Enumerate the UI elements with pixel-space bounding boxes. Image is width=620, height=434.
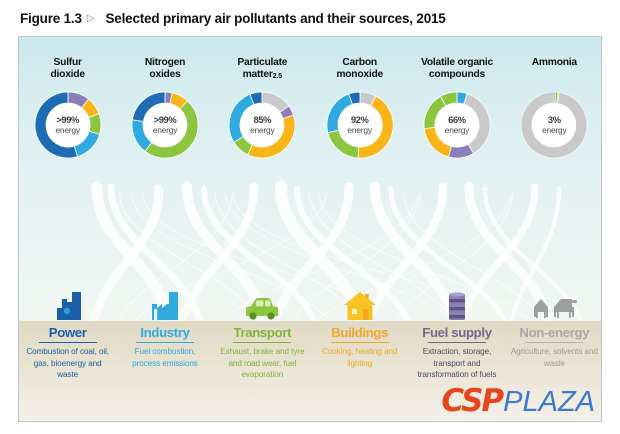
- sector-fuel-supply: Fuel supply Extraction, storage, transpo…: [408, 281, 505, 421]
- donut-chart-carbon-monoxide: 92% energy: [324, 89, 396, 161]
- pollutant-particulate-matter: Particulate matter2.5 85% energ: [214, 37, 311, 197]
- sector-buildings: Buildings Cooking, heating and lighting: [311, 281, 408, 421]
- pollutant-subscript: 2.5: [273, 71, 282, 80]
- pollutant-sulfur-dioxide: Sulfur dioxide >99% energy: [19, 37, 116, 197]
- pollutant-donut-row: Sulfur dioxide >99% energy: [19, 37, 602, 197]
- sector-description: Combustion of coal, oil, gas, bioenergy …: [19, 346, 116, 381]
- donut-center-label: 66% energy: [435, 103, 479, 147]
- car-icon: [240, 281, 284, 323]
- sector-rule: [331, 342, 389, 344]
- donut-chart-nitrogen-oxides: >99% energy: [129, 89, 201, 161]
- sector-description: Extraction, storage, transport and trans…: [408, 346, 505, 381]
- factory-icon: [145, 281, 185, 323]
- donut-sublabel: energy: [55, 126, 79, 135]
- donut-center-label: 85% energy: [240, 103, 284, 147]
- pollutant-label: Carbon monoxide: [336, 57, 383, 83]
- sector-rule: [428, 342, 486, 344]
- triangle-right-icon: ▷: [87, 13, 95, 24]
- donut-percent: >99%: [154, 115, 177, 126]
- sector-power: Power Combustion of coal, oil, gas, bioe…: [19, 281, 116, 421]
- donut-sublabel: energy: [542, 126, 566, 135]
- pollutant-label: Nitrogen oxides: [145, 57, 185, 83]
- sector-row: Power Combustion of coal, oil, gas, bioe…: [19, 281, 602, 421]
- sector-description: Exhaust, brake and tyre and road wear, f…: [214, 346, 311, 381]
- donut-percent: 85%: [254, 115, 272, 126]
- sector-title: Non-energy: [519, 325, 589, 340]
- house-icon: [340, 281, 380, 323]
- pollutant-label: Sulfur dioxide: [51, 57, 85, 83]
- figure-title: Selected primary air pollutants and thei…: [105, 11, 445, 26]
- sector-rule: [233, 342, 291, 344]
- donut-chart-ammonia: 3% energy: [518, 89, 590, 161]
- donut-sublabel: energy: [153, 126, 177, 135]
- pollutant-label: Particulate matter2.5: [237, 57, 287, 83]
- figure-header: Figure 1.3 ▷ Selected primary air pollut…: [0, 0, 620, 36]
- donut-sublabel: energy: [445, 126, 469, 135]
- pollutant-nitrogen-oxides: Nitrogen oxides >99% energy: [116, 37, 213, 197]
- sector-title: Transport: [233, 325, 291, 340]
- donut-chart-volatile-organic-compounds: 66% energy: [421, 89, 493, 161]
- sector-rule: [39, 342, 97, 344]
- sector-title: Buildings: [331, 325, 388, 340]
- sector-industry: Industry Fuel combustion, process emissi…: [116, 281, 213, 421]
- donut-chart-particulate-matter: 85% energy: [226, 89, 298, 161]
- donut-center-label: >99% energy: [143, 103, 187, 147]
- donut-sublabel: energy: [250, 126, 274, 135]
- pollutant-ammonia: Ammonia 3% energy: [506, 37, 602, 197]
- sector-title: Power: [49, 325, 87, 340]
- sector-description: Agriculture, solvents and waste: [506, 346, 602, 369]
- donut-percent: 66%: [448, 115, 466, 126]
- power-plant-icon: [48, 281, 88, 323]
- pollutant-volatile-organic-compounds: Volatile organic compounds 66%: [408, 37, 505, 197]
- figure-panel: Sulfur dioxide >99% energy: [18, 36, 602, 422]
- sector-title: Industry: [140, 325, 189, 340]
- livestock-icon: [528, 281, 580, 323]
- figure-number: Figure 1.3: [20, 11, 82, 26]
- donut-center-label: >99% energy: [46, 103, 90, 147]
- donut-percent: >99%: [56, 115, 79, 126]
- donut-chart-sulfur-dioxide: >99% energy: [32, 89, 104, 161]
- sector-description: Cooking, heating and lighting: [311, 346, 408, 369]
- donut-center-label: 92% energy: [338, 103, 382, 147]
- sector-non-energy: Non-energy Agriculture, solvents and was…: [506, 281, 602, 421]
- donut-percent: 3%: [548, 115, 561, 126]
- donut-sublabel: energy: [347, 126, 371, 135]
- oil-barrel-icon: [437, 281, 477, 323]
- donut-center-label: 3% energy: [532, 103, 576, 147]
- pollutant-label: Volatile organic compounds: [421, 57, 493, 83]
- donut-percent: 92%: [351, 115, 369, 126]
- sector-rule: [525, 342, 583, 344]
- sector-rule: [136, 342, 194, 344]
- sector-description: Fuel combustion, process emissions: [116, 346, 213, 369]
- pollutant-carbon-monoxide: Carbon monoxide 92% energy: [311, 37, 408, 197]
- pollutant-label: Ammonia: [532, 57, 577, 83]
- sector-title: Fuel supply: [422, 325, 491, 340]
- sector-transport: Transport Exhaust, brake and tyre and ro…: [214, 281, 311, 421]
